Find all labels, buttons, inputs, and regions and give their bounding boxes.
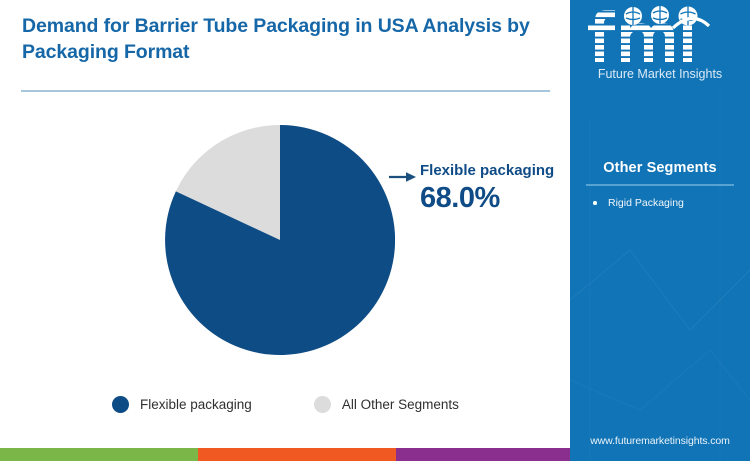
fmi-logo-svg: Future Market Insights xyxy=(585,6,735,84)
other-segments-divider xyxy=(586,184,734,186)
fmi-logo: Future Market Insights xyxy=(570,6,750,84)
legend-swatch-icon xyxy=(112,396,129,413)
logo-tagline: Future Market Insights xyxy=(598,67,722,81)
other-segment-label: Rigid Packaging xyxy=(608,197,684,209)
page-title: Demand for Barrier Tube Packaging in USA… xyxy=(22,14,550,66)
bottom-color-bar xyxy=(0,448,570,461)
list-item: Rigid Packaging xyxy=(570,195,750,212)
legend-label: Flexible packaging xyxy=(140,397,252,412)
chart-legend: Flexible packaging All Other Segments xyxy=(112,396,459,413)
bullet-icon xyxy=(593,201,597,205)
legend-label: All Other Segments xyxy=(342,397,459,412)
site-url: www.futuremarketinsights.com xyxy=(570,435,750,447)
legend-item-all-other-segments: All Other Segments xyxy=(314,396,459,413)
brand-sidebar: Future Market Insights Other Segments Ri… xyxy=(570,0,750,461)
infographic-page: Demand for Barrier Tube Packaging in USA… xyxy=(0,0,750,461)
content-area: Demand for Barrier Tube Packaging in USA… xyxy=(0,0,570,448)
color-bar-segment-orange xyxy=(198,448,396,461)
pie-chart-svg xyxy=(165,125,395,355)
other-segments-list: Rigid Packaging xyxy=(570,195,750,212)
color-bar-segment-green xyxy=(0,448,198,461)
other-segments-heading: Other Segments xyxy=(570,160,750,176)
other-segments-panel: Other Segments Rigid Packaging xyxy=(570,160,750,212)
callout-label: Flexible packaging xyxy=(420,162,554,179)
pie-chart xyxy=(165,125,395,355)
callout-value: 68.0% xyxy=(420,182,500,215)
title-divider xyxy=(21,90,550,92)
legend-swatch-icon xyxy=(314,396,331,413)
legend-item-flexible-packaging: Flexible packaging xyxy=(112,396,252,413)
arrow-right-icon xyxy=(389,171,417,183)
color-bar-segment-purple xyxy=(396,448,570,461)
